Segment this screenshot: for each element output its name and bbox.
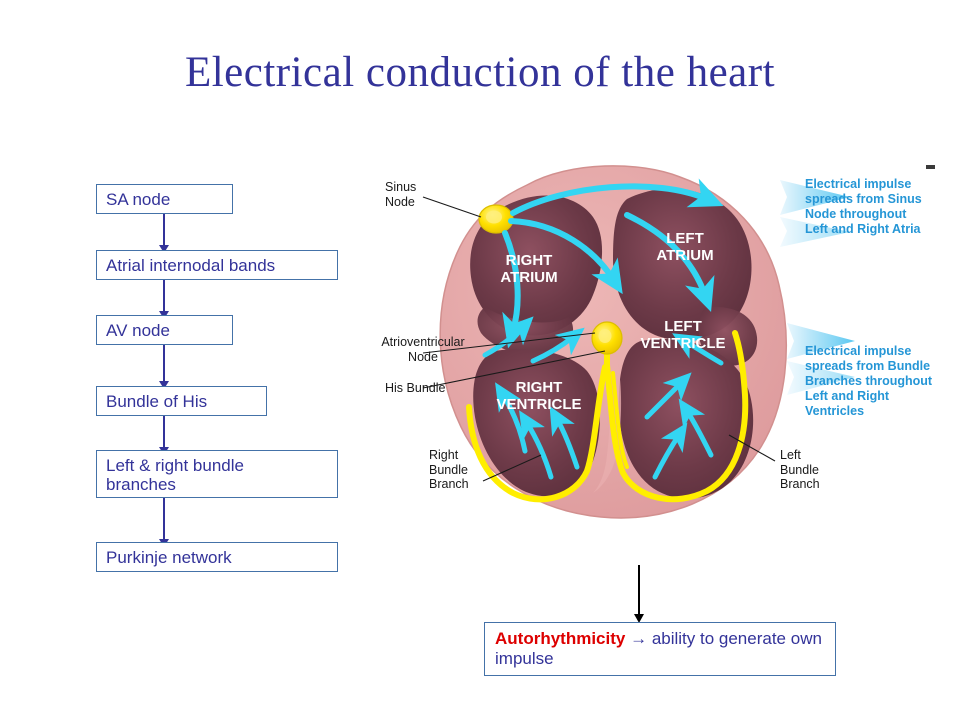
right-atrium-label-line1: RIGHT (506, 252, 553, 269)
atria-impulse-note: Electrical impulse spreads from Sinus No… (805, 177, 922, 237)
flow-arrow-2 (163, 280, 165, 312)
left-ventricle-label-line2: VENTRICLE (640, 335, 725, 352)
sinus-node-callout-label: Sinus Node (385, 180, 416, 209)
flow-step-av-node[interactable]: AV node (96, 315, 233, 345)
ventricles-impulse-note: Electrical impulse spreads from Bundle B… (805, 344, 932, 419)
autorhythmicity-term: Autorhythmicity (495, 629, 625, 648)
implies-arrow-icon: → (630, 629, 647, 648)
av-node-marker (592, 322, 622, 354)
flow-arrow-5 (163, 498, 165, 540)
flow-arrow-4 (163, 416, 165, 448)
sinus-node-marker (479, 205, 513, 233)
flow-step-purkinje-network[interactable]: Purkinje network (96, 542, 338, 572)
left-ventricle-label-line1: LEFT (664, 318, 702, 335)
flow-arrow-3 (163, 345, 165, 382)
his-bundle-callout-label: His Bundle (385, 381, 445, 396)
left-bundle-branch-callout-label: Left Bundle Branch (780, 448, 820, 492)
left-atrium-label-line1: LEFT (666, 230, 704, 247)
flow-step-bundle-of-his[interactable]: Bundle of His (96, 386, 267, 416)
flow-step-bundle-branches[interactable]: Left & right bundle branches (96, 450, 338, 498)
right-ventricle-label-line1: RIGHT (516, 379, 563, 396)
slide-canvas: Electrical conduction of the heart SA no… (0, 0, 960, 720)
right-bundle-branch-callout-label: Right Bundle Branch (429, 448, 469, 492)
conclusion-arrow (638, 565, 640, 615)
flow-arrow-1 (163, 214, 165, 246)
flow-step-atrial-internodal-bands[interactable]: Atrial internodal bands (96, 250, 338, 280)
image-artifact-speck (926, 165, 935, 169)
atrioventricular-node-callout-label: Atrioventricular Node (368, 335, 478, 364)
heart-conduction-diagram: RIGHT ATRIUM LEFT ATRIUM RIGHT VENTRICLE… (355, 155, 960, 540)
flow-step-sa-node[interactable]: SA node (96, 184, 233, 214)
page-title: Electrical conduction of the heart (0, 48, 960, 97)
left-atrium-label-line2: ATRIUM (656, 247, 713, 264)
right-atrium-label-line2: ATRIUM (500, 269, 557, 286)
autorhythmicity-box[interactable]: Autorhythmicity → ability to generate ow… (484, 622, 836, 676)
right-ventricle-label-line2: VENTRICLE (496, 396, 581, 413)
